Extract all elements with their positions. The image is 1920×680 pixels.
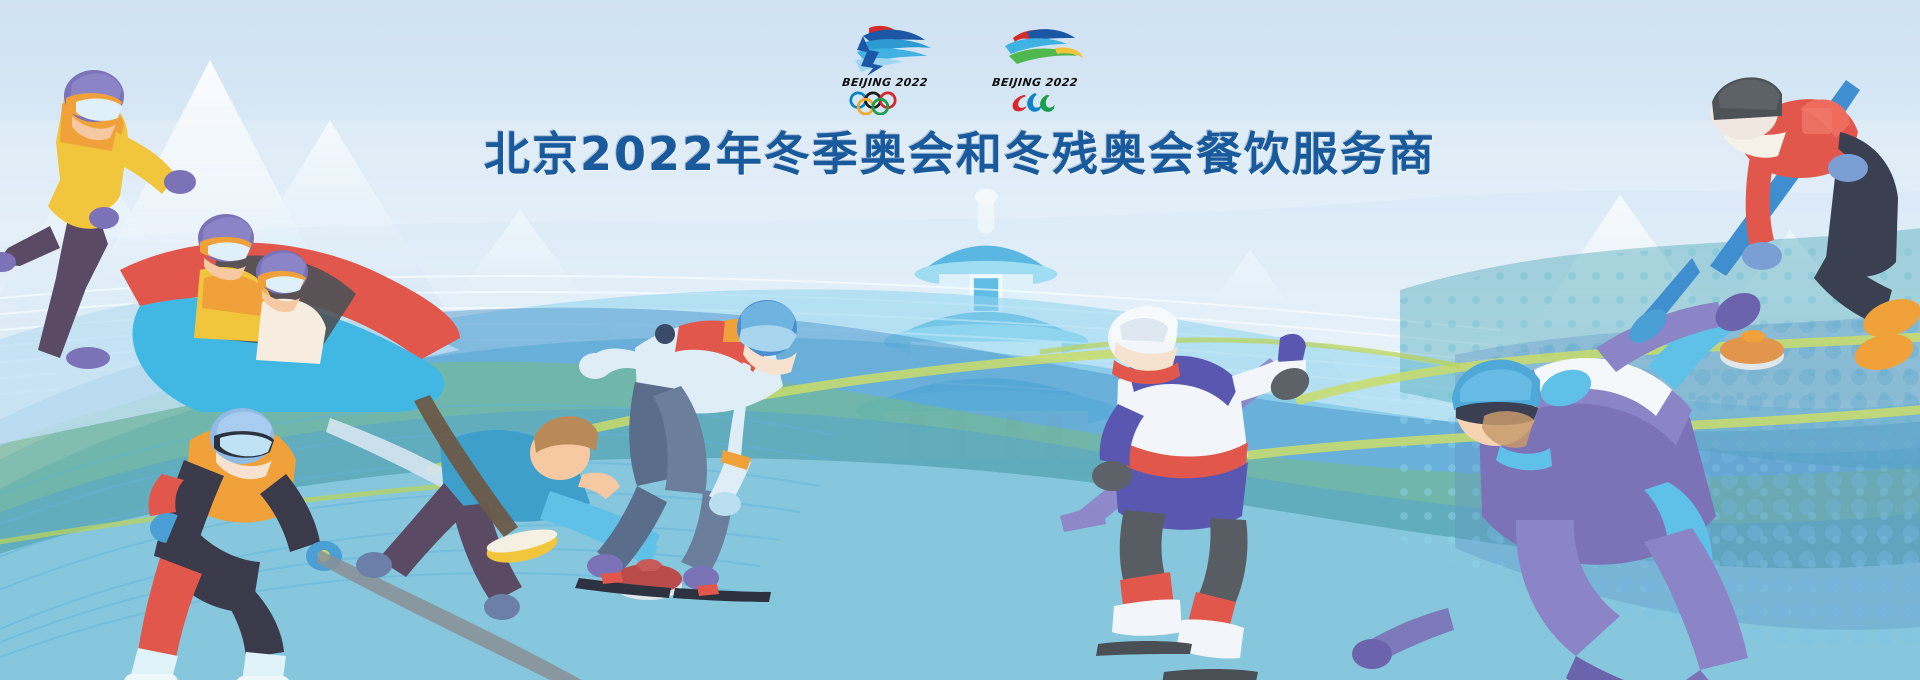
- olympic-dongmeng-icon: [833, 22, 937, 74]
- emblem-row: BEIJING 2022: [833, 22, 1087, 115]
- paralympic-wordmark: BEIJING 2022: [982, 76, 1087, 89]
- agitos-icon: [983, 91, 1087, 115]
- beijing-2022-olympic-emblem: BEIJING 2022: [833, 22, 937, 115]
- beijing-2022-paralympic-emblem: BEIJING 2022: [983, 22, 1087, 115]
- paralympic-feiyue-icon: [983, 22, 1087, 74]
- olympic-rings-icon: [833, 91, 937, 115]
- olympic-banner: BEIJING 2022: [0, 0, 1920, 680]
- olympic-wordmark: BEIJING 2022: [832, 76, 937, 89]
